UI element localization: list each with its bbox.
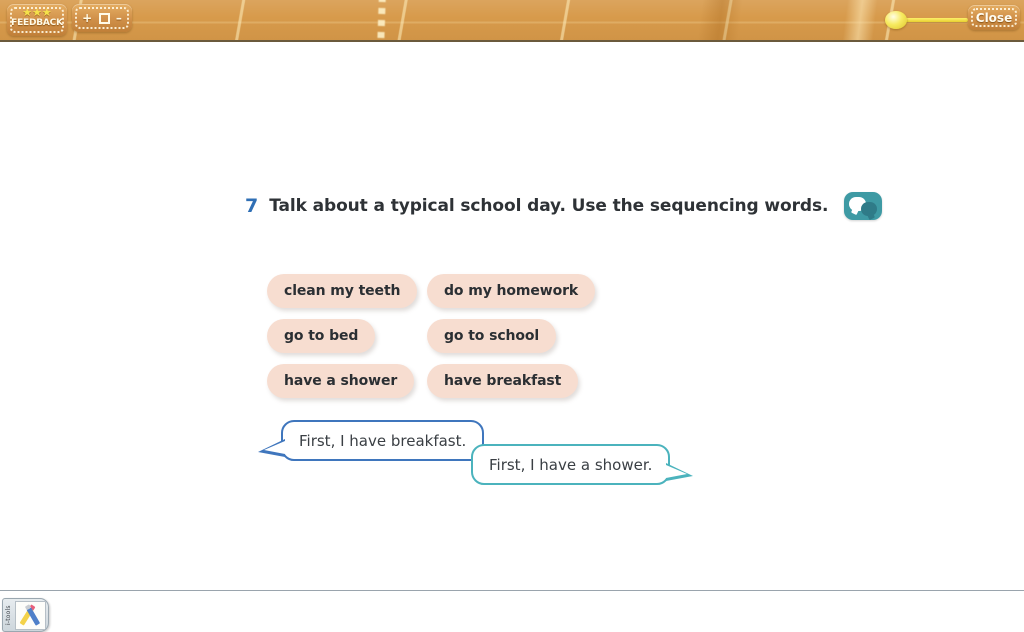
exercise-block: 7 Talk about a typical school day. Use t…	[245, 192, 945, 220]
exercise-instruction: Talk about a typical school day. Use the…	[269, 197, 828, 216]
feedback-label: FEEDBACK	[7, 18, 67, 28]
speech-bubble-text: First, I have a shower.	[489, 456, 652, 474]
word-card[interactable]: have breakfast	[427, 364, 578, 398]
word-card-cell: clean my teeth	[267, 274, 427, 310]
speech-bubble-text: First, I have breakfast.	[299, 432, 466, 450]
page-slider-track[interactable]	[900, 18, 968, 22]
word-card-row: clean my teeth do my homework	[267, 274, 687, 310]
pencil-pen-icon	[15, 601, 46, 630]
zoom-controls-group[interactable]: + –	[72, 4, 132, 32]
word-card[interactable]: do my homework	[427, 274, 595, 308]
fullscreen-icon[interactable]	[99, 13, 110, 24]
stars-icon: ★★★	[7, 8, 67, 18]
word-card[interactable]: go to school	[427, 319, 556, 353]
toolbar-streak	[841, 0, 878, 42]
bubble-tail-inner	[264, 441, 285, 454]
word-card[interactable]: clean my teeth	[267, 274, 417, 308]
speech-bubble-left[interactable]: First, I have breakfast.	[281, 420, 484, 461]
word-card[interactable]: have a shower	[267, 364, 414, 398]
close-label: Close	[968, 5, 1020, 30]
exercise-number: 7	[245, 197, 258, 216]
page-slider-knob[interactable]	[885, 11, 907, 29]
word-card-grid: clean my teeth do my homework go to bed …	[267, 274, 687, 409]
word-card-cell: do my homework	[427, 274, 627, 310]
close-button[interactable]: Close	[968, 5, 1020, 30]
top-toolbar: ★★★ FEEDBACK + – Close	[0, 0, 1024, 42]
word-card-row: have a shower have breakfast	[267, 364, 687, 400]
bubble-tail-inner	[666, 465, 687, 478]
lesson-page: 7 Talk about a typical school day. Use t…	[0, 42, 1024, 591]
word-card-cell: have a shower	[267, 364, 427, 400]
speech-bubbles-icon[interactable]	[844, 192, 882, 220]
speech-bubble-right[interactable]: First, I have a shower.	[471, 444, 670, 485]
exercise-heading: 7 Talk about a typical school day. Use t…	[245, 192, 945, 220]
word-card-cell: go to school	[427, 319, 627, 355]
word-card-cell: have breakfast	[427, 364, 627, 400]
word-card-cell: go to bed	[267, 319, 427, 355]
feedback-button[interactable]: ★★★ FEEDBACK	[7, 4, 67, 36]
zoom-in-icon[interactable]: +	[82, 12, 92, 24]
zoom-out-icon[interactable]: –	[116, 12, 122, 24]
itools-button[interactable]: i-tools	[2, 598, 49, 632]
word-card-row: go to bed go to school	[267, 319, 687, 355]
toolbar-streak	[696, 0, 743, 42]
word-card[interactable]: go to bed	[267, 319, 375, 353]
itools-label: i-tools	[4, 601, 14, 629]
